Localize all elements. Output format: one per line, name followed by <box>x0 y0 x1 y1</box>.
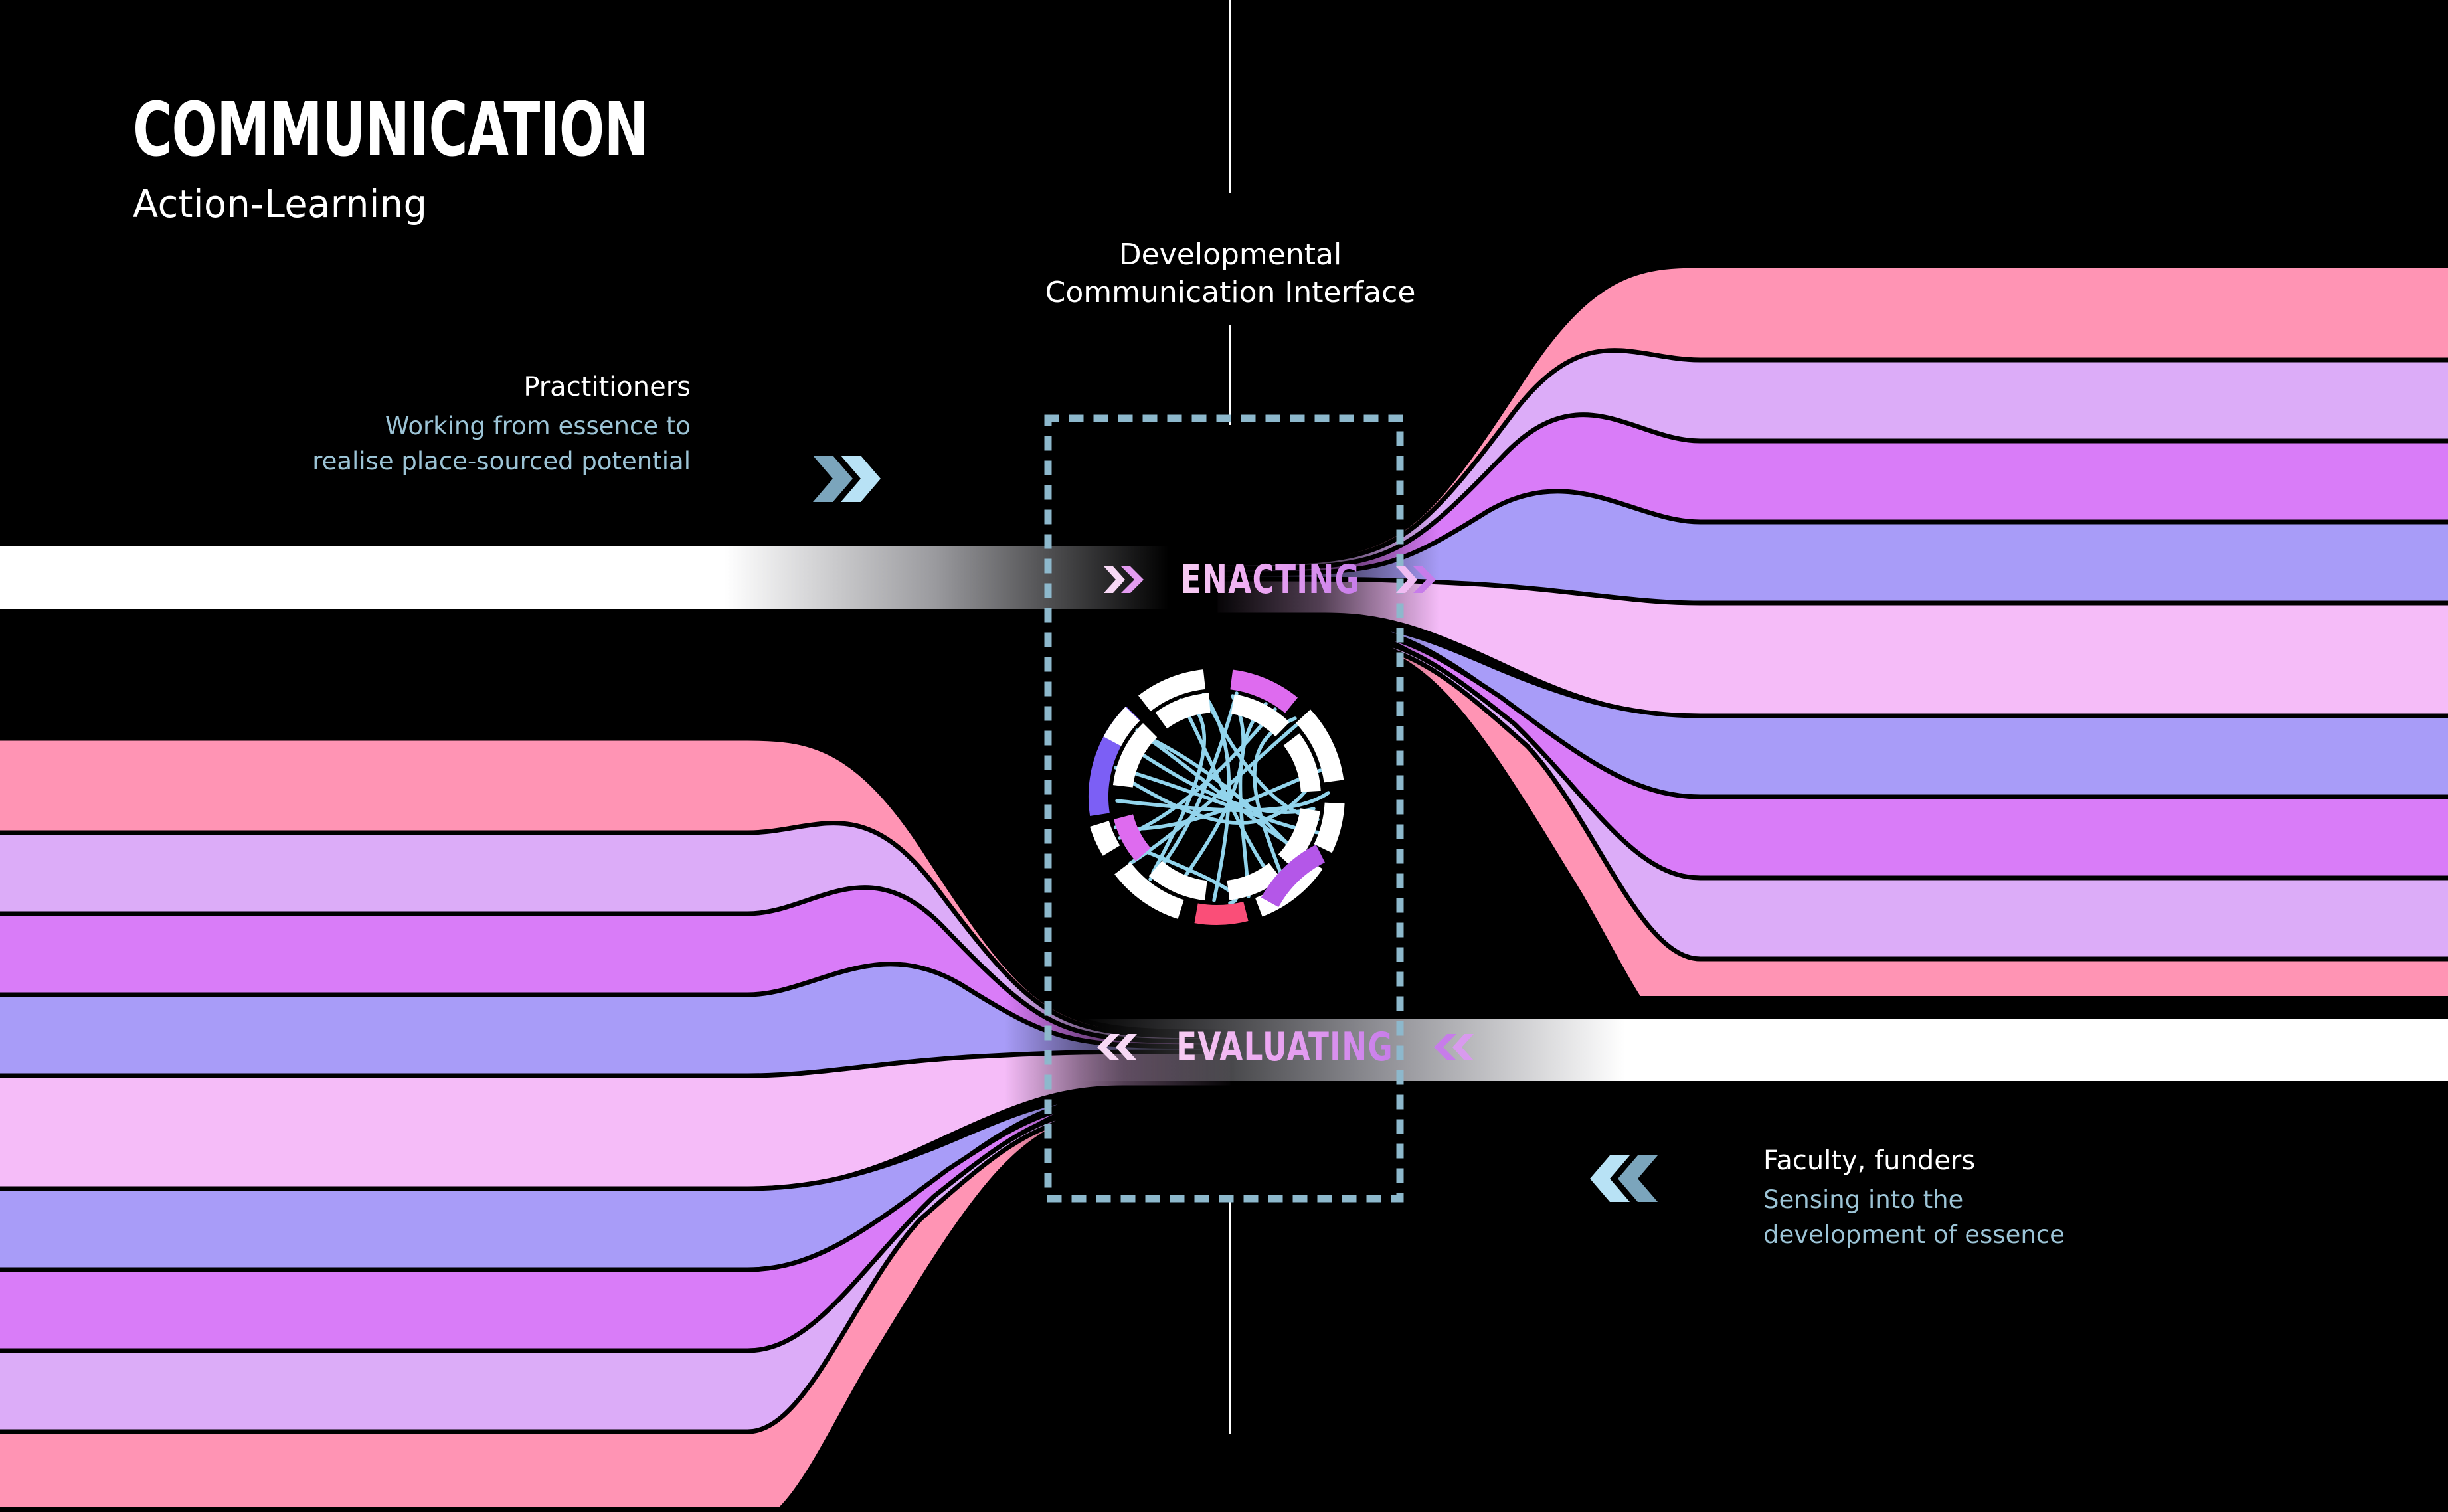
title-block: COMMUNICATION Action-Learning <box>133 93 777 223</box>
interface-label-line1: Developmental <box>996 236 1464 274</box>
faculty-block: Faculty, funders Sensing into the develo… <box>1763 1145 2315 1252</box>
interface-label-line2: Communication Interface <box>996 274 1464 311</box>
faculty-description-line1: Sensing into the <box>1763 1183 2315 1218</box>
chevron-double-right-icon <box>809 449 889 509</box>
chord-network-node <box>0 0 2448 1512</box>
faculty-description-line2: development of essence <box>1763 1218 2315 1253</box>
chevron-double-left-icon <box>1431 1030 1475 1064</box>
practitioners-title: Practitioners <box>139 372 691 402</box>
page-title: COMMUNICATION <box>133 93 648 167</box>
practitioners-description-line1: Working from essence to <box>139 409 691 444</box>
stage-label-evaluating-text: EVALUATING <box>1176 1024 1393 1070</box>
faculty-title: Faculty, funders <box>1763 1145 2315 1176</box>
stage-label-enacting-text: ENACTING <box>1181 556 1360 603</box>
faculty-description: Sensing into the development of essence <box>1763 1183 2315 1252</box>
practitioners-description: Working from essence to realise place-so… <box>139 409 691 479</box>
chevron-double-right-icon <box>1102 562 1146 597</box>
stage-label-evaluating[interactable]: EVALUATING <box>1094 1024 1475 1070</box>
stage-label-enacting[interactable]: ENACTING <box>1102 556 1439 603</box>
chevron-double-left-icon <box>1582 1149 1662 1209</box>
interface-label: Developmental Communication Interface <box>996 236 1464 311</box>
chevron-double-right-icon <box>1395 562 1439 597</box>
practitioners-description-line2: realise place-sourced potential <box>139 444 691 479</box>
diagram-canvas: COMMUNICATION Action-Learning Developmen… <box>0 0 2448 1512</box>
page-subtitle: Action-Learning <box>133 185 751 223</box>
chevron-double-left-icon <box>1094 1030 1138 1064</box>
practitioners-block: Practitioners Working from essence to re… <box>139 372 691 479</box>
